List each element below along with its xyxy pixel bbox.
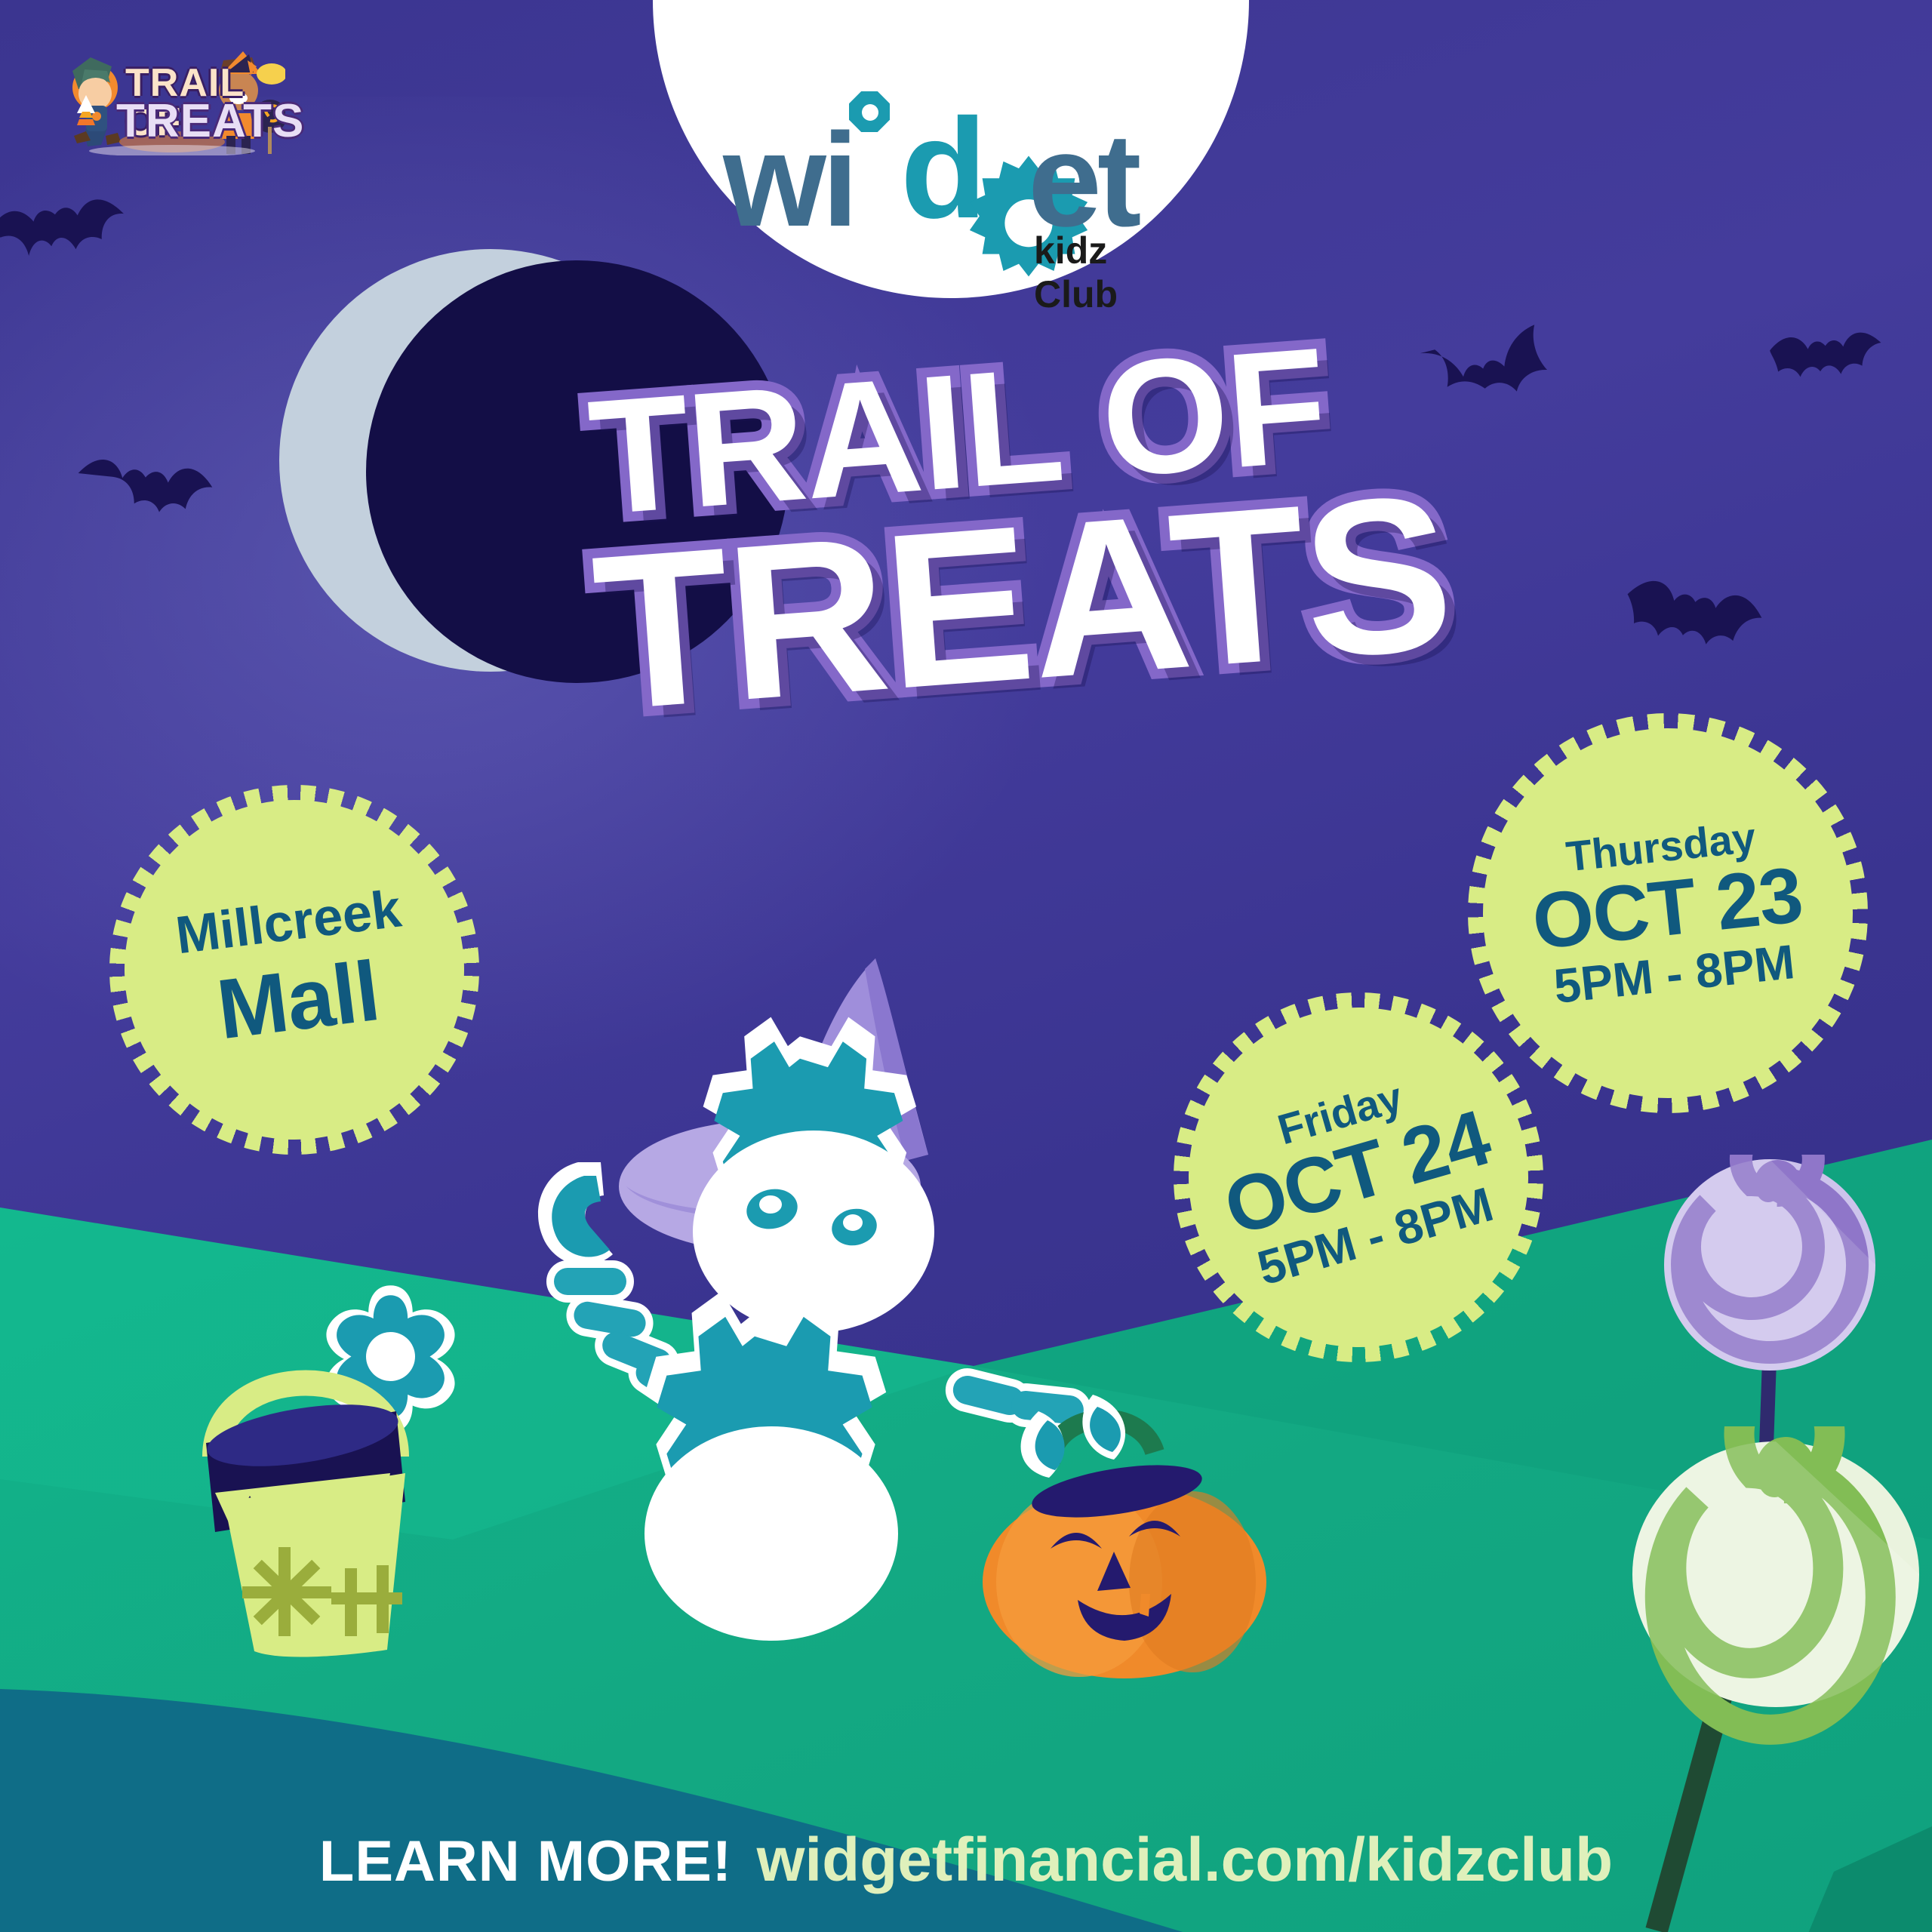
badge-location: Millcreek Mall: [105, 780, 483, 1158]
jack-o-lantern-icon: [966, 1381, 1283, 1698]
purple-lollipop-icon: [1657, 1155, 1883, 1472]
candy-bucket-icon: [170, 1275, 487, 1668]
widget-kidz-club-logo: wi d et kidz Club: [653, 0, 1249, 298]
trail-of-treats-logo: TRAIL OF TREATS: [59, 44, 285, 155]
logo-dot-hole: [862, 104, 878, 121]
bat-icon: [66, 438, 220, 558]
logo-subtitle: kidz Club: [1034, 229, 1185, 316]
page-title: TRAIL OF TREATS: [577, 309, 1672, 731]
bat-icon: [0, 178, 150, 312]
logo-text-et: et: [1028, 114, 1137, 247]
corner-logo-line2: TREATS: [116, 98, 304, 145]
badge-location-line2: Mall: [212, 942, 384, 1058]
footer-bar: LEARN MORE! widgetfinancial.com/kidzclub: [0, 1825, 1932, 1896]
website-url[interactable]: widgetfinancial.com/kidzclub: [757, 1826, 1614, 1894]
bat-icon: [1763, 316, 1906, 423]
badge-thursday: Thursday OCT 23 5PM - 8PM: [1465, 710, 1872, 1117]
learn-more-label: LEARN MORE!: [319, 1829, 732, 1894]
event-poster: TRAIL OF TREATS wi d et kidz Club TRAIL …: [0, 0, 1932, 1932]
logo-text-wi: wi: [723, 114, 854, 247]
title-line-2: TREATS: [589, 459, 1672, 731]
